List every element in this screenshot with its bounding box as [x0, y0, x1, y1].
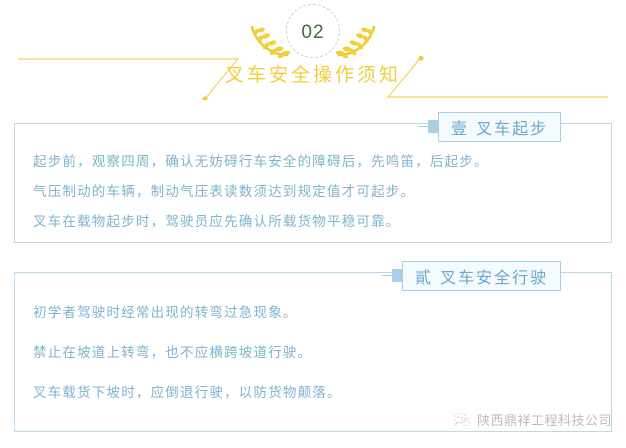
section-1-header-label: 壹 叉车起步 — [451, 115, 548, 139]
section-1-header-plate: 壹 叉车起步 — [438, 112, 561, 142]
footer-company-name: 陕西鼎祥工程科技公司 — [477, 410, 612, 429]
laurel-right-icon — [336, 24, 376, 58]
section-1-line-3: 叉车在载物起步时，驾驶员应先确认所载货物平稳可靠。 — [33, 210, 401, 230]
wechat-icon — [453, 412, 471, 428]
laurel-left-icon — [250, 24, 290, 58]
section-2-line-1: 初学者驾驶时经常出现的转弯过急现象。 — [33, 301, 298, 321]
section-2-header-label: 貳 叉车安全行驶 — [415, 264, 548, 288]
badge-number: 02 — [301, 22, 324, 44]
section-2-line-2: 禁止在坡道上转弯，也不应横跨坡道行驶。 — [33, 341, 312, 361]
section-2-line-3: 叉车载货下坡时，应倒退行驶，以防货物颠落。 — [33, 381, 342, 401]
bottom-strip — [0, 441, 626, 448]
footer-watermark: 陕西鼎祥工程科技公司 — [453, 410, 612, 429]
section-2-box: 初学者驾驶时经常出现的转弯过急现象。 禁止在坡道上转弯，也不应横跨坡道行驶。 叉… — [14, 272, 612, 432]
badge-area: 02 — [0, 0, 626, 62]
section-2-header-plate: 貳 叉车安全行驶 — [402, 261, 561, 291]
page-title-area: 叉车安全操作须知 — [0, 56, 626, 100]
page-title: 叉车安全操作须知 — [225, 60, 401, 87]
section-1-line-2: 气压制动的车辆，制动气压表读数须达到规定值才可起步。 — [33, 180, 415, 200]
section-1-line-1: 起步前，观察四周，确认无妨碍行车安全的障碍后，先鸣笛，后起步。 — [33, 150, 489, 170]
